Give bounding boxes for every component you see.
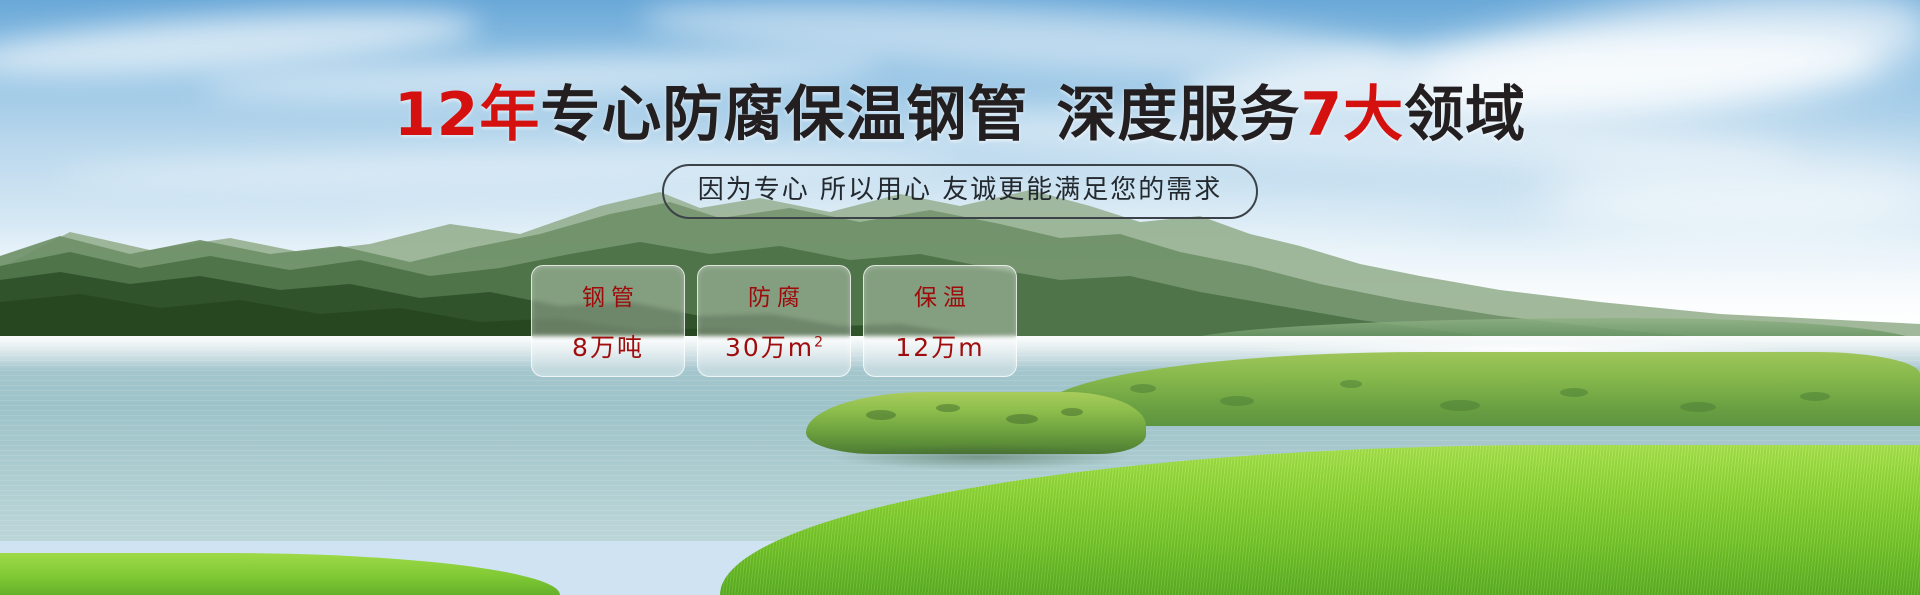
stat-card-value: 30万m2	[725, 328, 823, 364]
stat-value-superscript: 2	[814, 335, 823, 351]
stat-card-value: 12万m	[895, 328, 984, 364]
hero-banner: 12年专心防腐保温钢管深度服务7大领域 因为专心 所以用心 友诚更能满足您的需求…	[0, 0, 1920, 595]
stat-value-text: 30万m	[725, 333, 814, 362]
grass-left-edge	[0, 553, 560, 595]
stat-card-group: 钢管 8万吨 防腐 30万m2 保温 12万m	[531, 265, 1017, 377]
subtitle-pill: 因为专心 所以用心 友诚更能满足您的需求	[662, 164, 1259, 219]
subtitle-container: 因为专心 所以用心 友诚更能满足您的需求	[0, 164, 1920, 219]
stat-card-steel-pipe[interactable]: 钢管 8万吨	[531, 265, 685, 377]
stat-card-title: 防腐	[742, 278, 806, 312]
headline-fields: 领域	[1404, 80, 1526, 150]
stat-card-title: 钢管	[576, 278, 640, 312]
headline-seven-major: 7大	[1300, 80, 1404, 150]
headline-years: 12年	[394, 80, 541, 150]
stat-value-text: 12万m	[895, 333, 984, 362]
stat-card-anticorrosion[interactable]: 防腐 30万m2	[697, 265, 851, 377]
marsh-body	[1040, 352, 1920, 426]
headline-service: 深度服务	[1056, 80, 1300, 150]
grass-island	[806, 392, 1146, 478]
island-reflection	[830, 444, 1130, 470]
stat-value-text: 8万吨	[572, 333, 644, 362]
stat-card-value: 8万吨	[572, 328, 644, 364]
headline-specialty: 专心防腐保温钢管	[540, 80, 1028, 150]
stat-card-insulation[interactable]: 保温 12万m	[863, 265, 1017, 377]
page-title: 12年专心防腐保温钢管深度服务7大领域	[0, 85, 1920, 145]
stat-card-title: 保温	[908, 278, 972, 312]
